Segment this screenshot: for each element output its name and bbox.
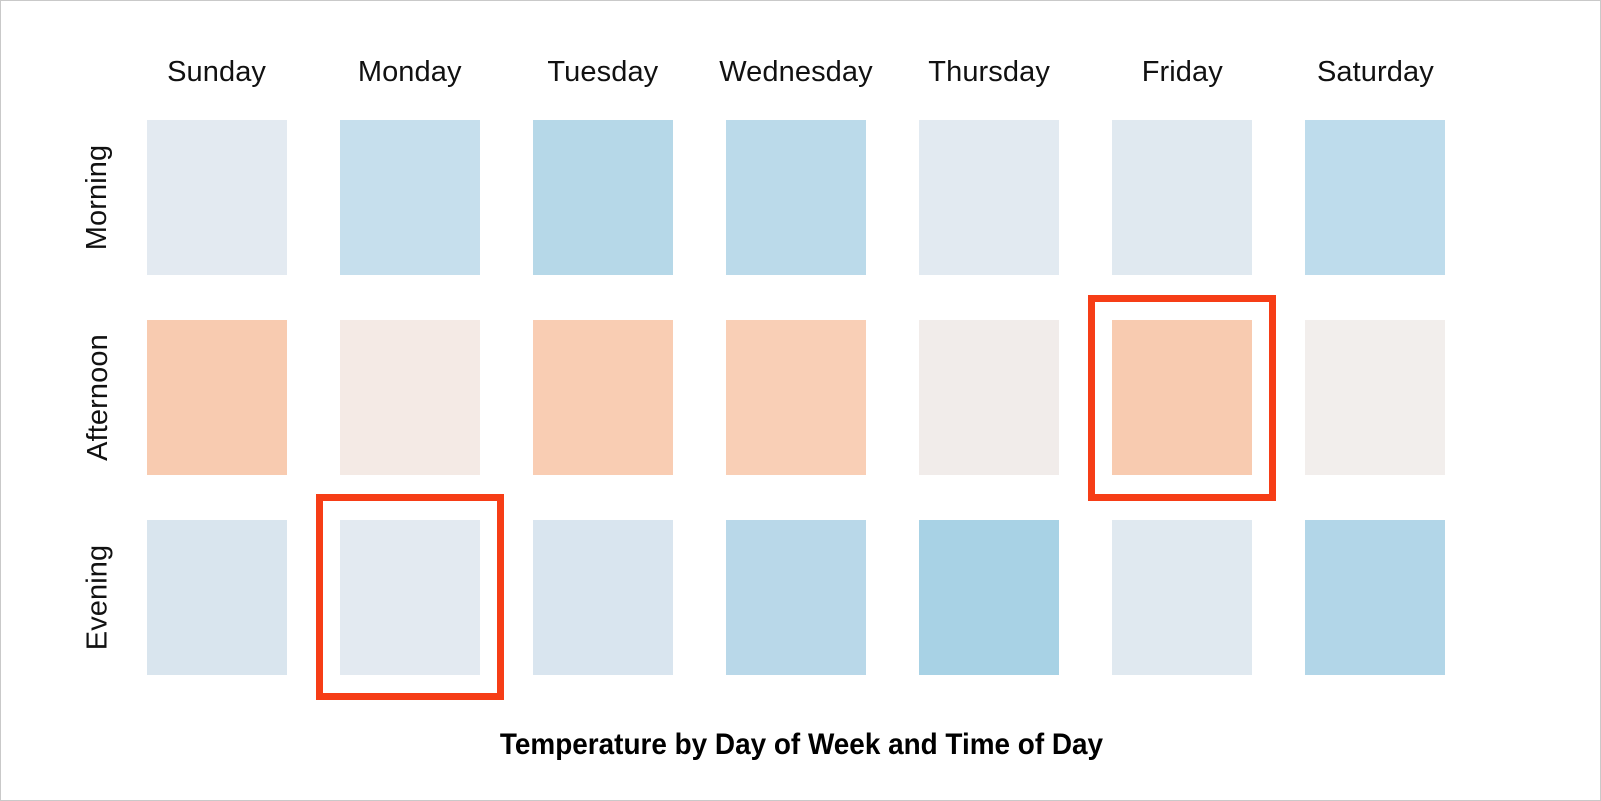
heatmap-cell-saturday-afternoon[interactable] bbox=[1305, 320, 1445, 475]
heatmap-cell-wednesday-evening[interactable] bbox=[726, 520, 866, 675]
heatmap-grid bbox=[120, 98, 1472, 697]
heatmap-slot bbox=[1086, 497, 1279, 697]
heatmap-cell-sunday-afternoon[interactable] bbox=[147, 320, 287, 475]
heatmap-slot bbox=[120, 298, 313, 498]
column-header-row: Sunday Monday Tuesday Wednesday Thursday… bbox=[120, 49, 1472, 95]
row-label-afternoon: Afternoon bbox=[79, 298, 117, 498]
heatmap-slot bbox=[699, 298, 892, 498]
heatmap-slot bbox=[313, 298, 506, 498]
heatmap-cell-monday-morning[interactable] bbox=[340, 120, 480, 275]
heatmap-slot bbox=[120, 497, 313, 697]
heatmap-slot bbox=[699, 497, 892, 697]
heatmap-cell-tuesday-morning[interactable] bbox=[533, 120, 673, 275]
heatmap-cell-friday-morning[interactable] bbox=[1112, 120, 1252, 275]
heatmap-cell-sunday-evening[interactable] bbox=[147, 520, 287, 675]
heatmap-cell-monday-evening[interactable] bbox=[340, 520, 480, 675]
column-header-saturday: Saturday bbox=[1279, 49, 1472, 95]
heatmap-cell-wednesday-afternoon[interactable] bbox=[726, 320, 866, 475]
row-label-column: Morning Afternoon Evening bbox=[79, 98, 117, 697]
chart-title: Temperature by Day of Week and Time of D… bbox=[57, 728, 1546, 762]
heatmap-slot bbox=[1279, 98, 1472, 298]
heatmap-slot bbox=[1279, 497, 1472, 697]
heatmap-slot bbox=[506, 497, 699, 697]
heatmap-cell-saturday-morning[interactable] bbox=[1305, 120, 1445, 275]
heatmap-cell-monday-afternoon[interactable] bbox=[340, 320, 480, 475]
heatmap-cell-tuesday-afternoon[interactable] bbox=[533, 320, 673, 475]
heatmap-slot bbox=[1086, 98, 1279, 298]
heatmap-cell-saturday-evening[interactable] bbox=[1305, 520, 1445, 675]
heatmap-cell-friday-afternoon[interactable] bbox=[1112, 320, 1252, 475]
heatmap-slot bbox=[893, 298, 1086, 498]
heatmap-slot bbox=[1279, 298, 1472, 498]
heatmap-cell-thursday-afternoon[interactable] bbox=[919, 320, 1059, 475]
column-header-friday: Friday bbox=[1086, 49, 1279, 95]
heatmap-cell-wednesday-morning[interactable] bbox=[726, 120, 866, 275]
heatmap-slot bbox=[506, 298, 699, 498]
row-label-morning-text: Morning bbox=[82, 145, 115, 250]
column-header-wednesday: Wednesday bbox=[699, 49, 892, 95]
heatmap-slot bbox=[893, 497, 1086, 697]
row-label-evening-text: Evening bbox=[82, 544, 115, 650]
heatmap-cell-sunday-morning[interactable] bbox=[147, 120, 287, 275]
heatmap-cell-thursday-morning[interactable] bbox=[919, 120, 1059, 275]
heatmap-slot bbox=[699, 98, 892, 298]
heatmap-slot bbox=[120, 98, 313, 298]
column-header-thursday: Thursday bbox=[893, 49, 1086, 95]
heatmap-cell-thursday-evening[interactable] bbox=[919, 520, 1059, 675]
heatmap-cell-friday-evening[interactable] bbox=[1112, 520, 1252, 675]
heatmap-slot bbox=[1086, 298, 1279, 498]
heatmap-slot bbox=[893, 98, 1086, 298]
heatmap-cell-tuesday-evening[interactable] bbox=[533, 520, 673, 675]
row-label-morning: Morning bbox=[79, 98, 117, 298]
column-header-tuesday: Tuesday bbox=[506, 49, 699, 95]
heatmap-slot bbox=[313, 497, 506, 697]
row-label-afternoon-text: Afternoon bbox=[82, 334, 115, 461]
row-label-evening: Evening bbox=[79, 497, 117, 697]
column-header-monday: Monday bbox=[313, 49, 506, 95]
heatmap-slot bbox=[506, 98, 699, 298]
heatmap-slot bbox=[313, 98, 506, 298]
heatmap-chart: Sunday Monday Tuesday Wednesday Thursday… bbox=[0, 0, 1601, 801]
column-header-sunday: Sunday bbox=[120, 49, 313, 95]
